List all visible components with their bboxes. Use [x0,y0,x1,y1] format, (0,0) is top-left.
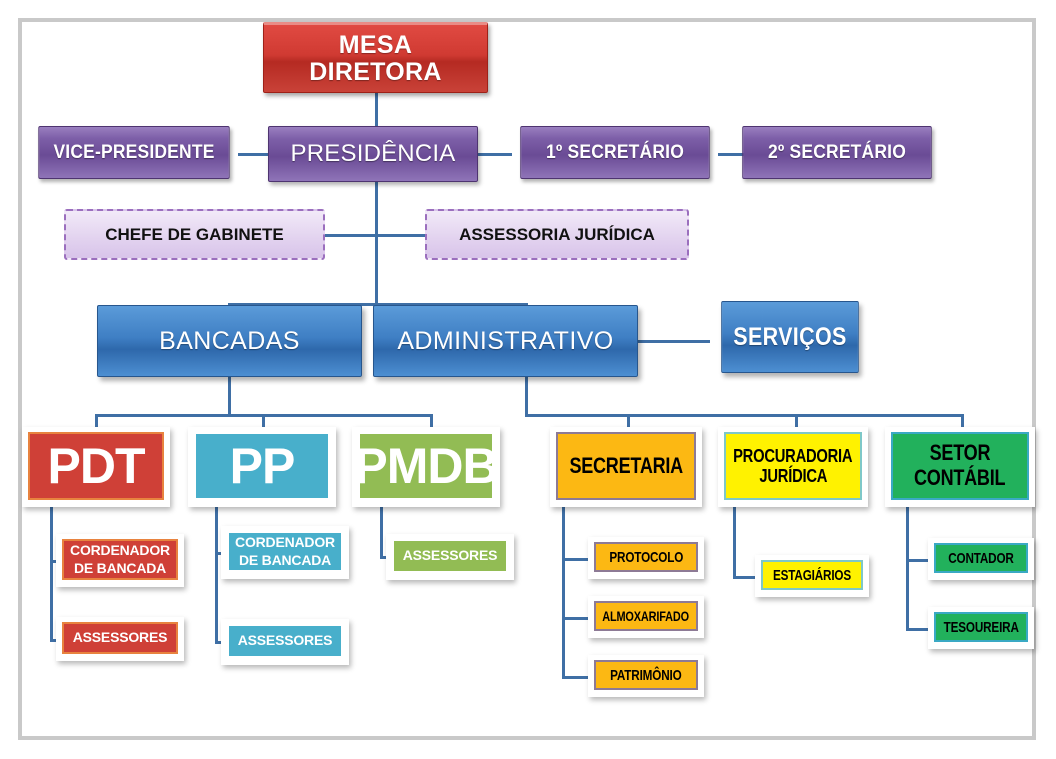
node-pp-coordenador-fill: CORDENADOR DE BANCADA [227,531,343,572]
node-patrimonio-fill: PATRIMÔNIO [594,660,698,690]
node-mesa-diretora-line1: MESA [339,32,412,58]
node-segundo-secretario-label: 2º SECRETÁRIO [768,143,906,163]
node-protocolo-fill: PROTOCOLO [594,542,698,572]
node-pmdb-assessores[interactable]: ASSESSORES [386,534,514,580]
connector-protocolo [562,558,590,561]
node-contador-label: CONTADOR [948,551,1013,566]
node-pmdb-assessores-label: ASSESSORES [403,547,497,564]
connector-presidencia-spine [375,182,378,304]
connector-pmdb-spine [380,507,383,559]
node-pp-assessores[interactable]: ASSESSORES [221,619,349,665]
node-secretaria-label: SECRETARIA [569,454,682,479]
node-setor-contabil-fill: SETOR CONTÁBIL [891,432,1029,500]
node-chefe-de-gabinete[interactable]: CHEFE DE GABINETE [64,209,325,260]
node-protocolo-label: PROTOCOLO [609,550,683,565]
node-contador-fill: CONTADOR [934,543,1028,573]
connector-contador [906,559,930,562]
connector-administrativo-spine [525,377,528,415]
node-secretaria-fill: SECRETARIA [556,432,696,500]
node-pdt-coordenador-fill: CORDENADOR DE BANCADA [62,539,178,580]
node-administrativo-label: ADMINISTRATIVO [397,328,613,354]
connector-almoxarifado [562,617,590,620]
connector-procuradoria-spine [733,507,736,579]
node-pdt-assessores[interactable]: ASSESSORES [56,617,184,661]
node-pmdb[interactable]: PMDB [352,427,500,507]
node-administrativo[interactable]: ADMINISTRATIVO [373,305,638,377]
node-segundo-secretario[interactable]: 2º SECRETÁRIO [742,126,932,179]
node-estagiarios[interactable]: ESTAGIÁRIOS [755,555,869,597]
node-setor-contabil-line2: CONTÁBIL [914,466,1005,491]
node-pdt-label: PDT [48,441,145,491]
node-pp-label: PP [230,441,295,491]
node-almoxarifado[interactable]: ALMOXARIFADO [588,596,704,638]
node-setor-contabil-line1: SETOR [930,441,991,466]
node-pp-coordenador-line2: DE BANCADA [239,552,331,569]
node-primeiro-secretario-label: 1º SECRETÁRIO [546,143,684,163]
connector-sec1-to-sec2 [718,153,744,156]
node-vice-presidente[interactable]: VICE-PRESIDENTE [38,126,229,179]
node-assessoria-juridica[interactable]: ASSESSORIA JURÍDICA [425,209,689,260]
node-pp-assessores-fill: ASSESSORES [227,624,343,658]
node-assessoria-juridica-label: ASSESSORIA JURÍDICA [459,226,655,244]
connector-gabinete-arm [325,234,377,237]
connector-pdt-spine [50,507,53,642]
node-pdt-fill: PDT [28,432,164,500]
node-estagiarios-fill: ESTAGIÁRIOS [761,560,863,590]
node-secretaria[interactable]: SECRETARIA [550,427,702,507]
node-almoxarifado-label: ALMOXARIFADO [603,609,690,623]
connector-pp-spine [215,507,218,644]
node-servicos[interactable]: SERVIÇOS [721,301,859,373]
node-tesoureira-fill: TESOUREIRA [934,612,1028,642]
node-mesa-diretora-line2: DIRETORA [309,59,442,85]
node-pdt-assessores-label: ASSESSORES [73,629,167,646]
node-pmdb-assessores-fill: ASSESSORES [392,539,508,573]
node-pp-assessores-label: ASSESSORES [238,632,332,649]
connector-assessoria-arm [375,234,425,237]
node-patrimonio[interactable]: PATRIMÔNIO [588,655,704,697]
node-pdt-coordenador[interactable]: CORDENADOR DE BANCADA [56,534,184,587]
node-pp-coordenador-line1: CORDENADOR [235,534,335,551]
node-procuradoria-juridica-line1: PROCURADORIA [733,446,852,466]
node-bancadas[interactable]: BANCADAS [97,305,362,377]
node-pdt-coordenador-line2: DE BANCADA [74,560,166,577]
connector-presidencia-to-sec1 [478,153,512,156]
node-pdt-assessores-fill: ASSESSORES [62,622,178,654]
node-tesoureira-label: TESOUREIRA [943,620,1018,635]
connector-secretaria-spine [562,507,565,679]
node-procuradoria-juridica-line2: JURÍDICA [759,466,827,486]
node-pp-fill: PP [194,432,330,500]
node-procuradoria-juridica[interactable]: PROCURADORIA JURÍDICA [718,427,868,507]
connector-estagiarios [733,576,757,579]
node-pdt[interactable]: PDT [22,427,170,507]
node-pdt-coordenador-line1: CORDENADOR [70,542,170,559]
node-mesa-diretora[interactable]: MESA DIRETORA [263,22,488,93]
node-presidencia-label: PRESIDÊNCIA [291,141,456,166]
node-primeiro-secretario[interactable]: 1º SECRETÁRIO [520,126,710,179]
node-estagiarios-label: ESTAGIÁRIOS [773,568,851,583]
node-bancadas-label: BANCADAS [159,328,300,354]
connector-mesa-to-presidencia [375,93,378,126]
connector-bancadas-spine [228,377,231,415]
node-contador[interactable]: CONTADOR [928,538,1034,580]
connector-administrativo-to-servicos [638,340,710,343]
node-protocolo[interactable]: PROTOCOLO [588,537,704,579]
organogram-canvas: MESA DIRETORA VICE-PRESIDENTE PRESIDÊNCI… [0,0,1056,759]
node-pp[interactable]: PP [188,427,336,507]
connector-tesoureira [906,628,930,631]
connector-patrimonio [562,676,590,679]
node-patrimonio-label: PATRIMÔNIO [610,668,681,683]
connector-departments-bar [525,414,964,417]
node-pmdb-fill: PMDB [358,432,494,500]
node-almoxarifado-fill: ALMOXARIFADO [594,601,698,631]
node-chefe-de-gabinete-label: CHEFE DE GABINETE [105,226,284,244]
connector-contabil-spine [906,507,909,631]
node-tesoureira[interactable]: TESOUREIRA [928,607,1034,649]
node-servicos-label: SERVIÇOS [733,324,846,350]
node-pmdb-label: PMDB [354,441,497,491]
node-vice-presidente-label: VICE-PRESIDENTE [53,143,214,163]
node-presidencia[interactable]: PRESIDÊNCIA [268,126,478,182]
node-pp-coordenador[interactable]: CORDENADOR DE BANCADA [221,526,349,579]
node-setor-contabil[interactable]: SETOR CONTÁBIL [885,427,1035,507]
node-procuradoria-juridica-fill: PROCURADORIA JURÍDICA [724,432,862,500]
